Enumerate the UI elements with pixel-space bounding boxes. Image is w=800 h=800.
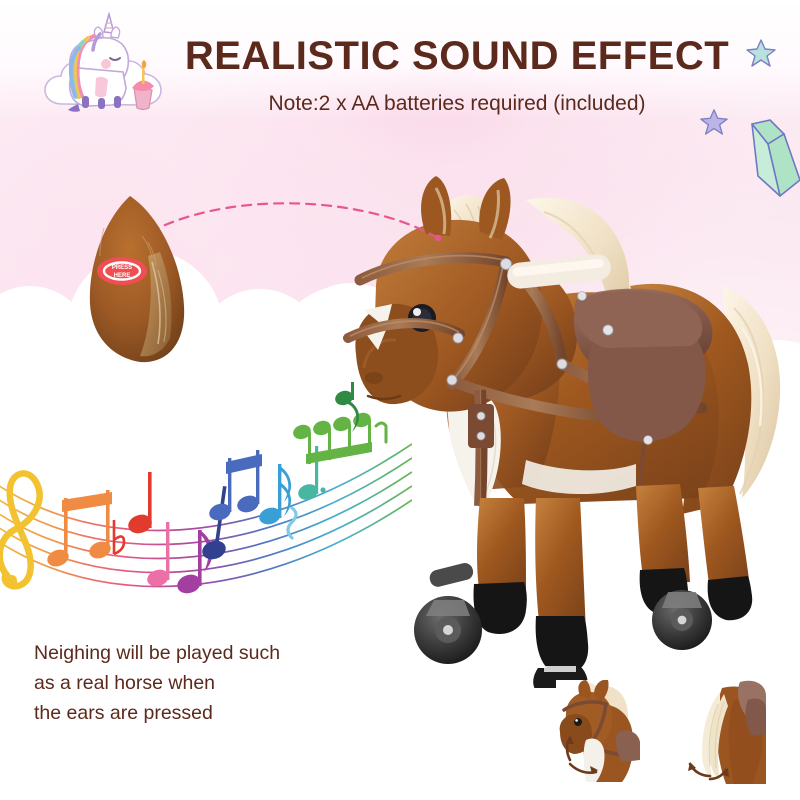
detail-thumbnails <box>556 680 766 784</box>
caster-wheel <box>652 590 712 650</box>
svg-text:HERE: HERE <box>114 273 131 279</box>
star-doodle-icon <box>746 38 776 68</box>
svg-text:PRESS: PRESS <box>112 265 132 271</box>
press-here-tag: PRESS HERE <box>97 257 147 285</box>
unicorn-on-cloud-logo <box>38 12 168 130</box>
thumbnail-tail-motion[interactable] <box>682 680 766 784</box>
caster-wheel <box>414 561 482 664</box>
horse-ear-closeup: PRESS HERE <box>78 192 198 372</box>
caption-line-1: Neighing will be played such <box>34 638 280 668</box>
battery-note: Note:2 x AA batteries required (included… <box>172 92 742 116</box>
caption-line-3: the ears are pressed <box>34 698 280 728</box>
thumbnail-head-motion[interactable] <box>556 680 640 784</box>
page-title: REALISTIC SOUND EFFECT <box>172 34 742 79</box>
crystal-doodle-icon <box>744 118 800 200</box>
caption-line-2: as a real horse when <box>34 668 280 698</box>
feature-caption: Neighing will be played such as a real h… <box>34 638 280 728</box>
product-feature-banner: REALISTIC SOUND EFFECT Note:2 x AA batte… <box>0 0 800 800</box>
